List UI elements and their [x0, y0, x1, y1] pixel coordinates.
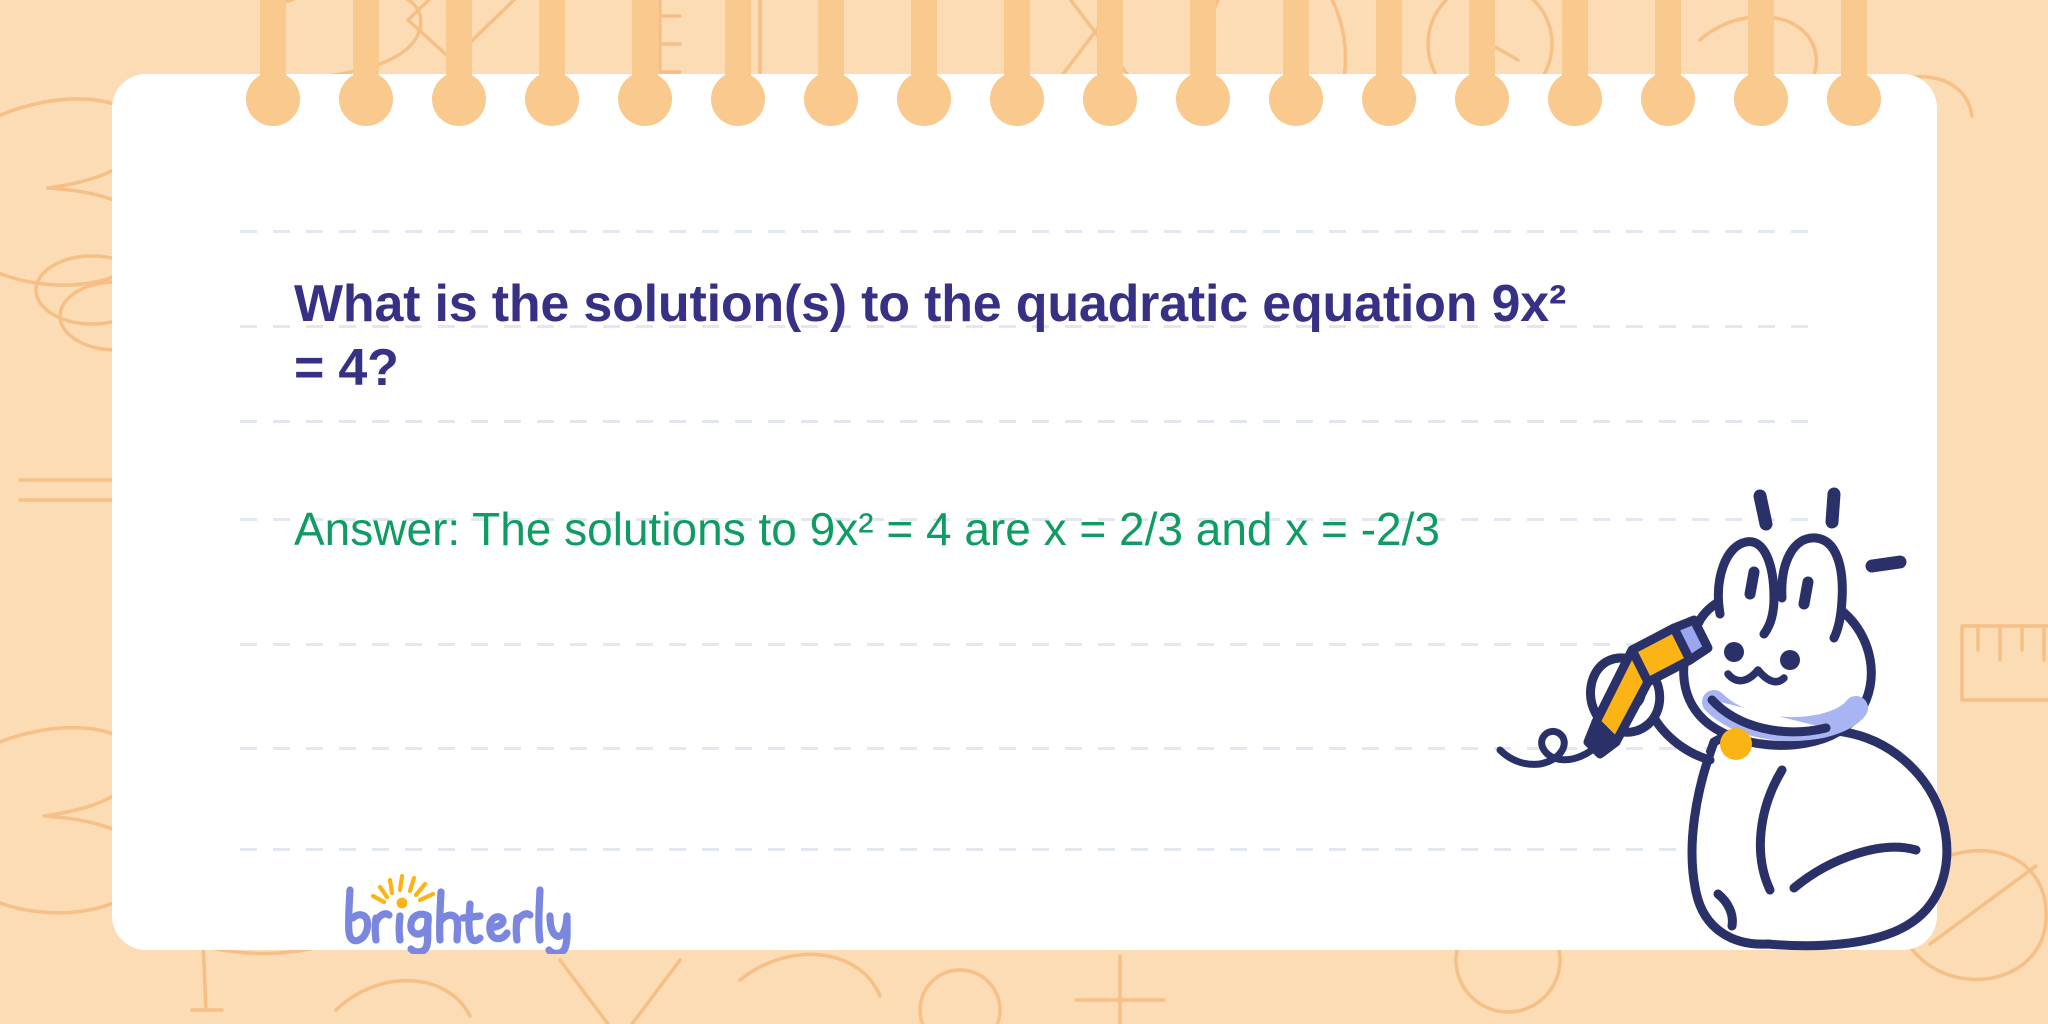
notepad-card: What is the solution(s) to the quadratic… [112, 74, 1937, 950]
brighterly-logo[interactable] [340, 874, 580, 954]
collar-tag-icon [1720, 728, 1752, 760]
question-title: What is the solution(s) to the quadratic… [294, 272, 1584, 400]
answer-text: Answer: The solutions to 9x² = 4 are x =… [294, 498, 1494, 560]
sun-dot-icon [397, 898, 408, 909]
left-eye [1724, 642, 1744, 662]
right-eye [1780, 650, 1800, 670]
bunny-mascot [1482, 474, 1982, 954]
